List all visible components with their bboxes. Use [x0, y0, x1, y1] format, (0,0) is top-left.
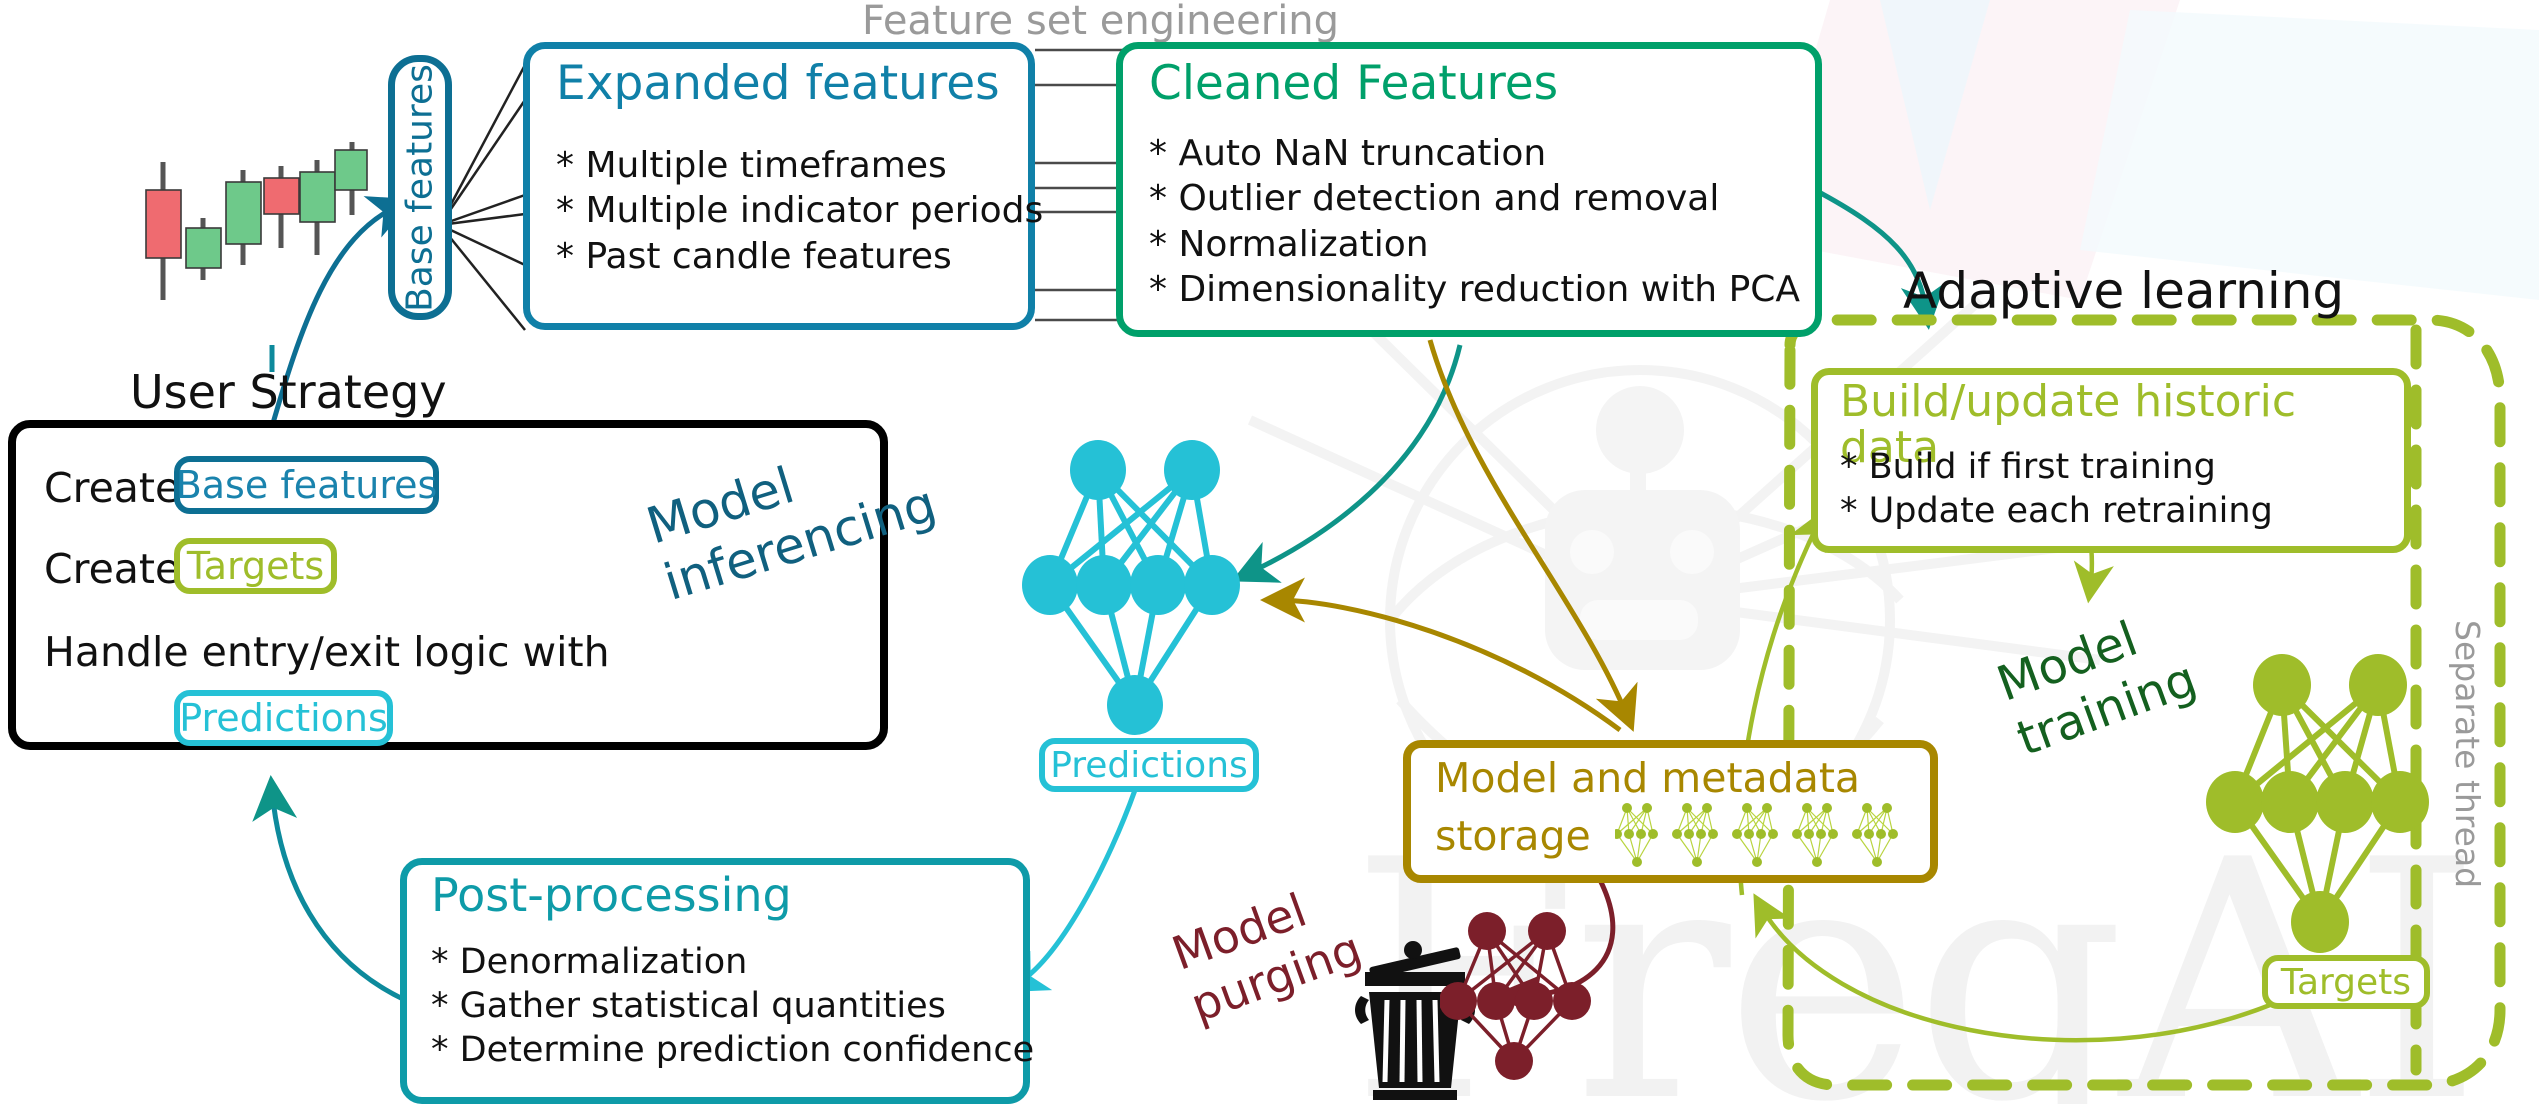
model-metadata-storage-box[interactable]: Model and metadata storage [1403, 740, 1938, 883]
post-processing-box[interactable]: Post-processing * Denormalization * Gath… [400, 858, 1030, 1104]
expanded-bullet-0: * Multiple timeframes [556, 143, 1043, 188]
adaptive-learning-heading: Adaptive learning [1903, 262, 2344, 320]
historic-bullet-0: * Build if first training [1840, 445, 2273, 489]
inference-neural-network [1020, 430, 1270, 750]
expanded-features-bullets: * Multiple timeframes * Multiple indicat… [556, 143, 1043, 279]
post-bullet-2: * Determine prediction confidence [431, 1028, 1034, 1072]
user-strategy-create-label-2: Create [44, 545, 180, 593]
cleaned-bullet-0: * Auto NaN truncation [1149, 131, 1800, 176]
user-strategy-entry-exit-text: Handle entry/exit logic with [44, 628, 610, 676]
historic-bullet-1: * Update each retraining [1840, 489, 2273, 533]
base-features-pill-label: Base features [400, 64, 441, 312]
freqai-architecture-diagram: FreqAI [0, 0, 2539, 1104]
storage-line1: Model and metadata [1435, 754, 1860, 802]
targets-tag-training[interactable]: Targets [2262, 955, 2430, 1009]
targets-tag-label: Targets [187, 544, 324, 588]
post-bullet-1: * Gather statistical quantities [431, 984, 1034, 1028]
targets-tag-training-label: Targets [2281, 962, 2411, 1003]
build-update-historic-data-box[interactable]: Build/update historic data * Build if fi… [1811, 368, 2411, 553]
cleaned-bullet-3: * Dimensionality reduction with PCA [1149, 267, 1800, 312]
storage-line2: storage [1435, 812, 1591, 860]
historic-data-bullets: * Build if first training * Update each … [1840, 445, 2273, 533]
user-strategy-heading: User Strategy [130, 365, 447, 419]
model-training-label: Model training [1990, 596, 2204, 768]
expanded-features-title: Expanded features [556, 59, 1000, 108]
predictions-tag-inference[interactable]: Predictions [1039, 738, 1259, 792]
post-bullet-0: * Denormalization [431, 940, 1034, 984]
targets-tag[interactable]: Targets [174, 538, 337, 594]
stored-models-icons [1615, 800, 1930, 872]
base-features-tag-label: Base features [176, 463, 438, 507]
expanded-bullet-1: * Multiple indicator periods [556, 188, 1043, 233]
candlestick-chart [140, 120, 370, 350]
cleaned-bullet-2: * Normalization [1149, 222, 1800, 267]
user-strategy-create-label-1: Create [44, 464, 180, 512]
predictions-tag-strategy-label: Predictions [179, 696, 388, 740]
expanded-bullet-2: * Past candle features [556, 234, 1043, 279]
predictions-tag-inference-label: Predictions [1050, 745, 1248, 786]
base-features-pill[interactable]: Base features [388, 55, 452, 320]
training-neural-network [2200, 650, 2460, 960]
cleaned-features-bullets: * Auto NaN truncation * Outlier detectio… [1149, 131, 1800, 312]
predictions-tag-strategy[interactable]: Predictions [174, 690, 393, 746]
cleaned-bullet-1: * Outlier detection and removal [1149, 176, 1800, 221]
expanded-features-box[interactable]: Expanded features * Multiple timeframes … [523, 42, 1035, 330]
cleaned-features-title: Cleaned Features [1149, 59, 1558, 108]
base-features-tag[interactable]: Base features [174, 456, 439, 514]
purged-model-network [1440, 905, 1620, 1085]
model-purging-label: Model purging [1165, 870, 1369, 1034]
cleaned-features-box[interactable]: Cleaned Features * Auto NaN truncation *… [1116, 42, 1822, 337]
feature-set-engineering-title: Feature set engineering [862, 0, 1339, 44]
post-processing-title: Post-processing [431, 871, 792, 919]
post-processing-bullets: * Denormalization * Gather statistical q… [431, 940, 1034, 1072]
